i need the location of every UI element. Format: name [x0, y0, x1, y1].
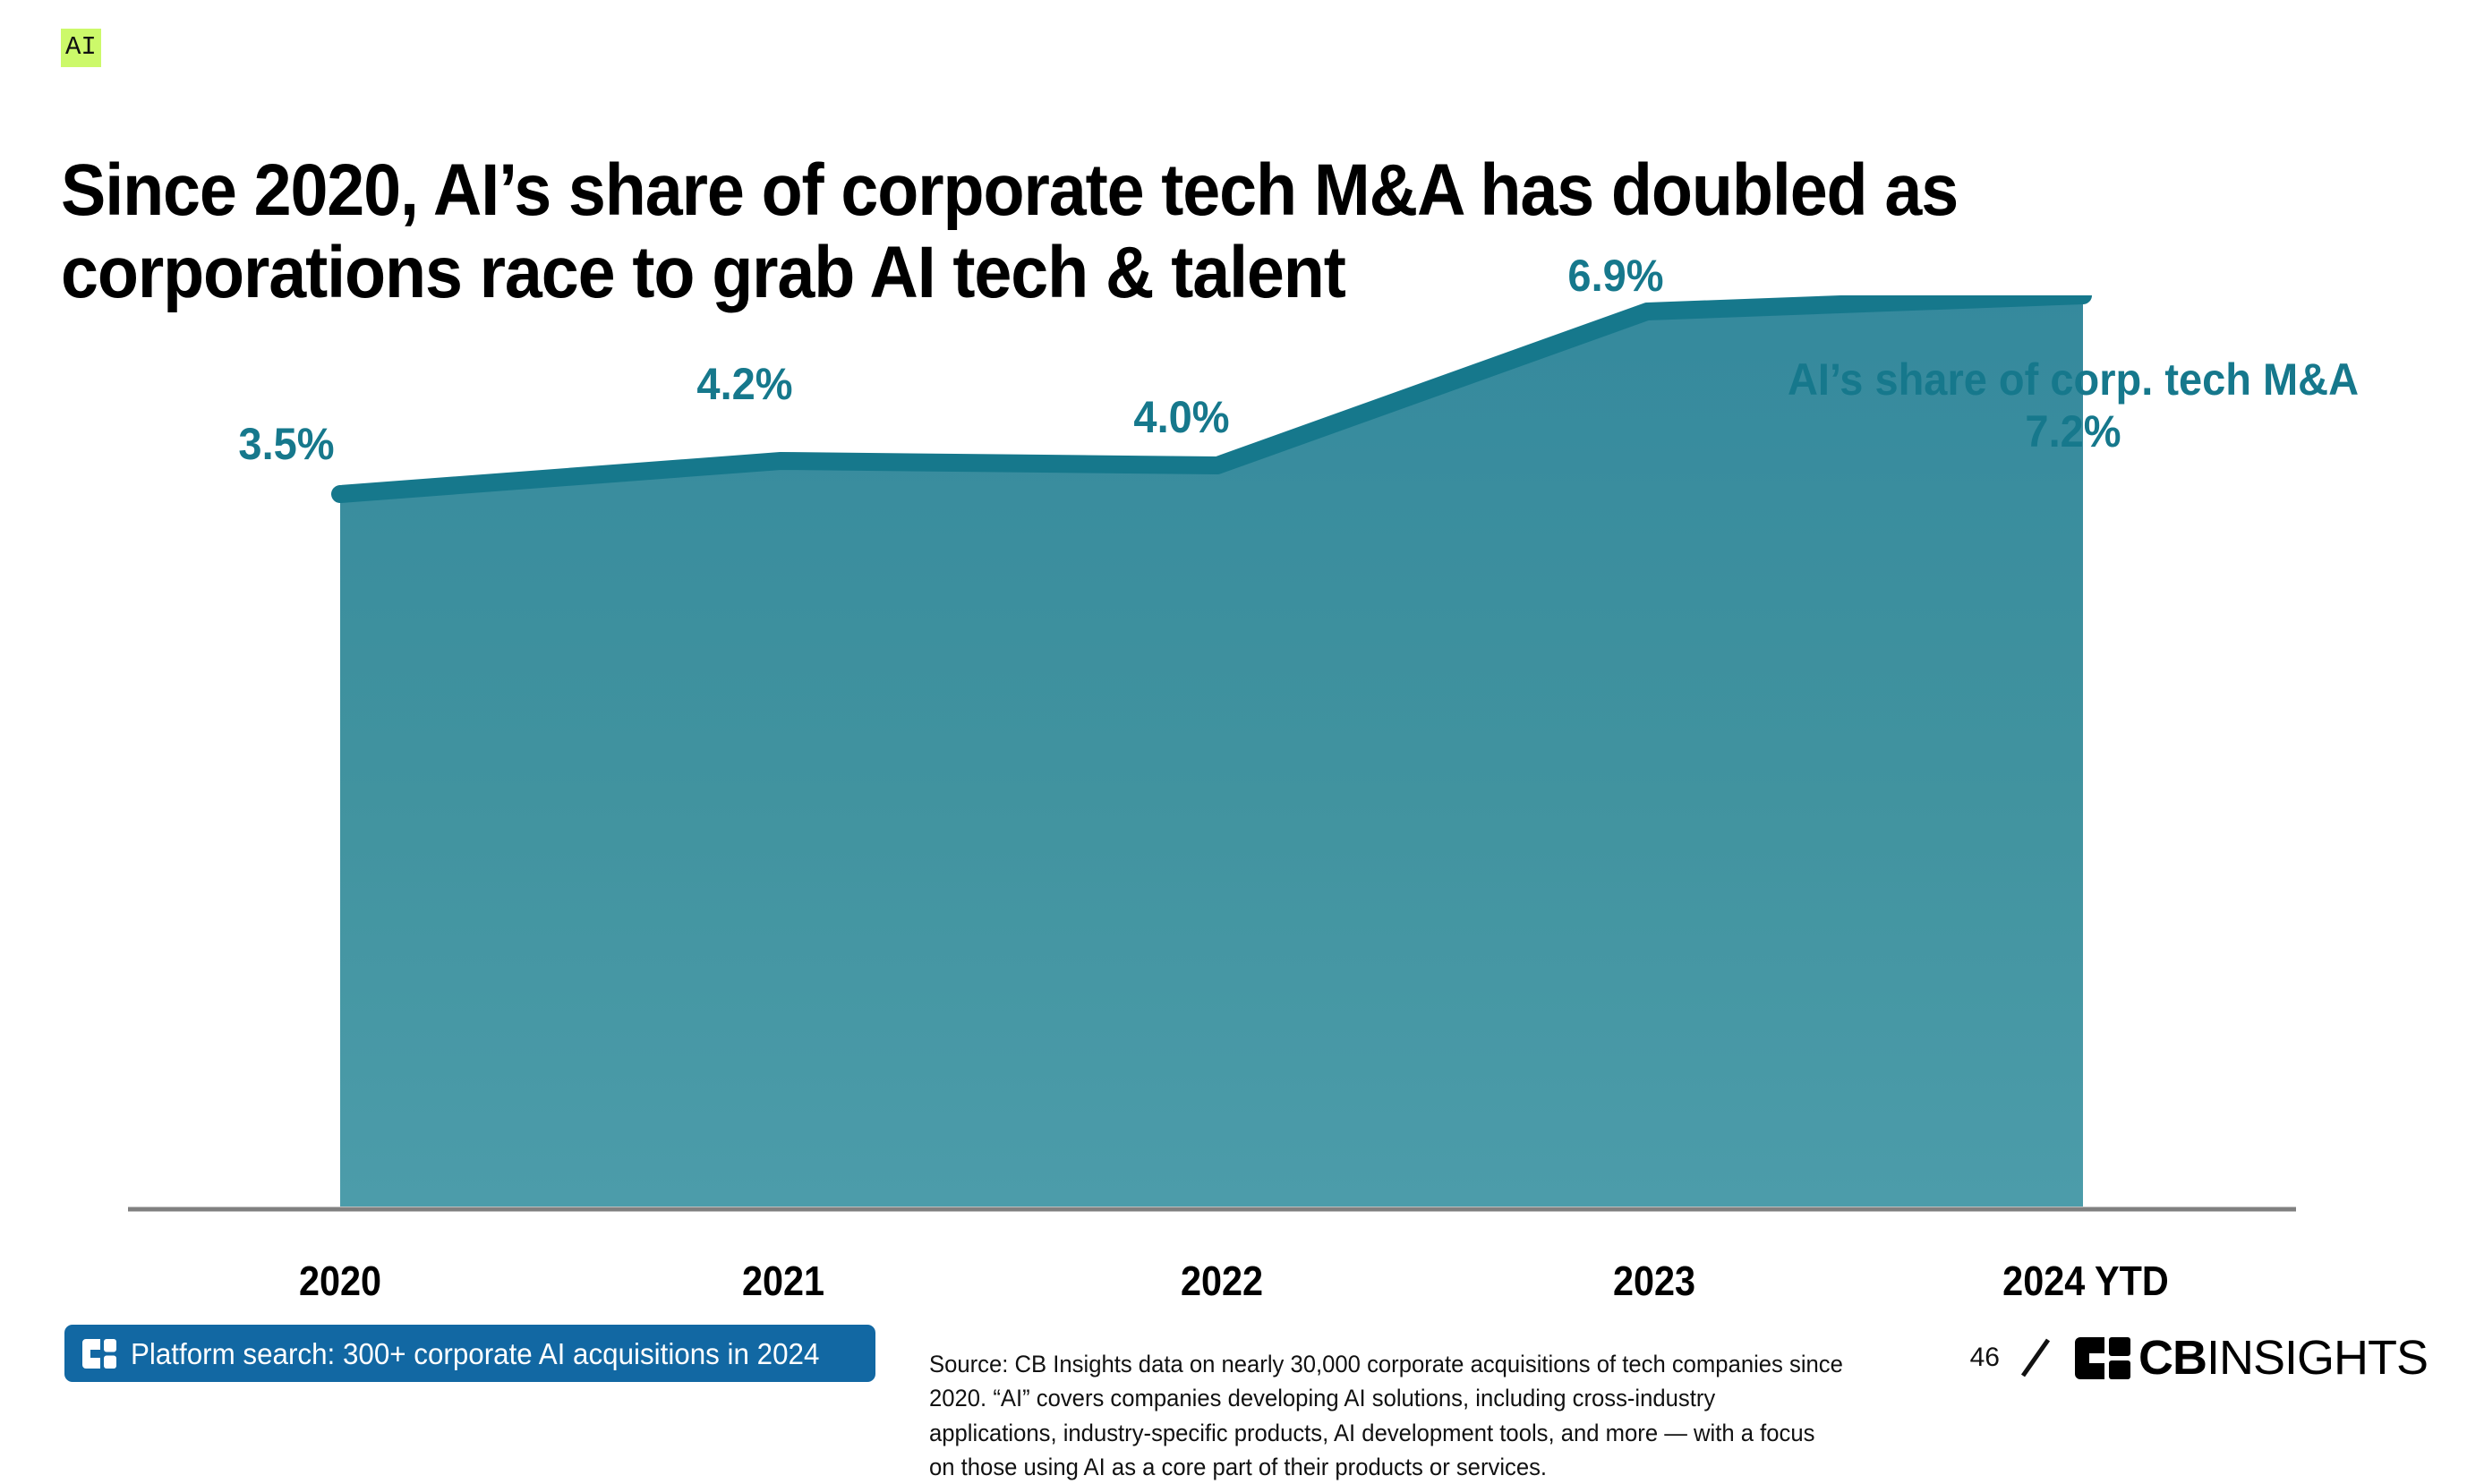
brand-cb: CB [2138, 1331, 2207, 1385]
cb-insights-mark-icon [2075, 1337, 2130, 1379]
x-tick-2024-ytd: 2024 YTD [1981, 1260, 2190, 1301]
series-legend: AI’s share of corp. tech M&A 7.2% [1754, 354, 2393, 457]
x-tick-2021: 2021 [695, 1260, 872, 1301]
cb-insights-logo: CBINSIGHTS [2075, 1334, 2428, 1382]
page-number: 46 [1970, 1344, 2000, 1371]
series-legend-value: 7.2% [1754, 405, 2393, 457]
platform-search-button[interactable]: Platform search: 300+ corporate AI acqui… [64, 1325, 875, 1382]
data-label-2023: 6.9% [1515, 252, 1717, 300]
area-chart: AI’s share of corp. tech M&A 7.2% 3.5% 4… [0, 295, 2467, 1289]
category-tag-ai: AI [61, 29, 101, 67]
cb-insights-mark-icon [82, 1339, 116, 1369]
brand-insights: INSIGHTS [2207, 1331, 2428, 1385]
x-tick-2020: 2020 [252, 1260, 429, 1301]
series-legend-name: AI’s share of corp. tech M&A [1754, 354, 2393, 405]
footer-brand-block: 46 CBINSIGHTS [1970, 1330, 2428, 1386]
x-tick-2023: 2023 [1566, 1260, 1743, 1301]
page-title: Since 2020, AI’s share of corporate tech… [61, 149, 2169, 314]
cb-insights-wordmark: CBINSIGHTS [2138, 1334, 2428, 1382]
data-label-2020: 3.5% [185, 421, 388, 468]
source-note: Source: CB Insights data on nearly 30,00… [929, 1347, 1843, 1484]
data-label-2022: 4.0% [1080, 394, 1283, 441]
slash-divider-icon [2019, 1337, 2052, 1378]
platform-search-label: Platform search: 300+ corporate AI acqui… [131, 1339, 819, 1369]
x-tick-2022: 2022 [1133, 1260, 1310, 1301]
data-label-2021: 4.2% [644, 361, 846, 408]
